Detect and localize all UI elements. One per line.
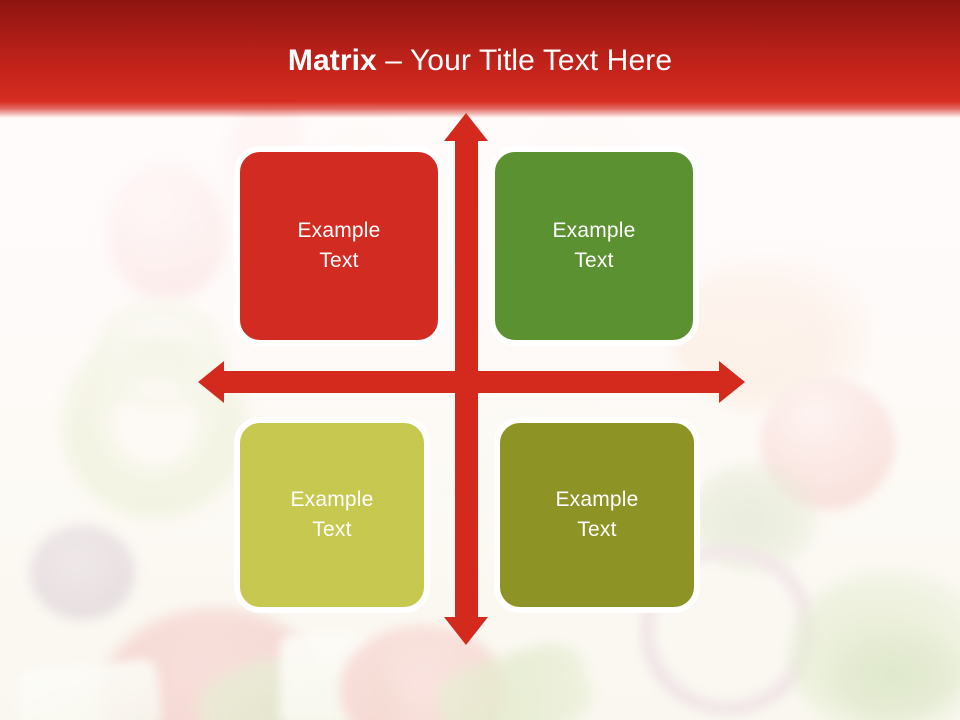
quadrant-top-right[interactable]: Example Text — [489, 146, 699, 346]
quadrant-bottom-right[interactable]: Example Text — [494, 417, 700, 613]
quadrant-bottom-right-label: Example Text — [555, 485, 638, 545]
quadrant-top-right-label: Example Text — [552, 216, 635, 276]
slide: Matrix – Your Title Text Here Example Te… — [0, 0, 960, 720]
quadrant-bottom-left[interactable]: Example Text — [234, 417, 430, 613]
quadrant-top-left[interactable]: Example Text — [234, 146, 444, 346]
page-title-bold: Matrix — [288, 44, 377, 77]
quadrant-bottom-left-label: Example Text — [290, 485, 373, 545]
page-title-rest: – Your Title Text Here — [377, 44, 672, 77]
quadrant-top-left-label: Example Text — [297, 216, 380, 276]
page-title: Matrix – Your Title Text Here — [0, 42, 960, 80]
